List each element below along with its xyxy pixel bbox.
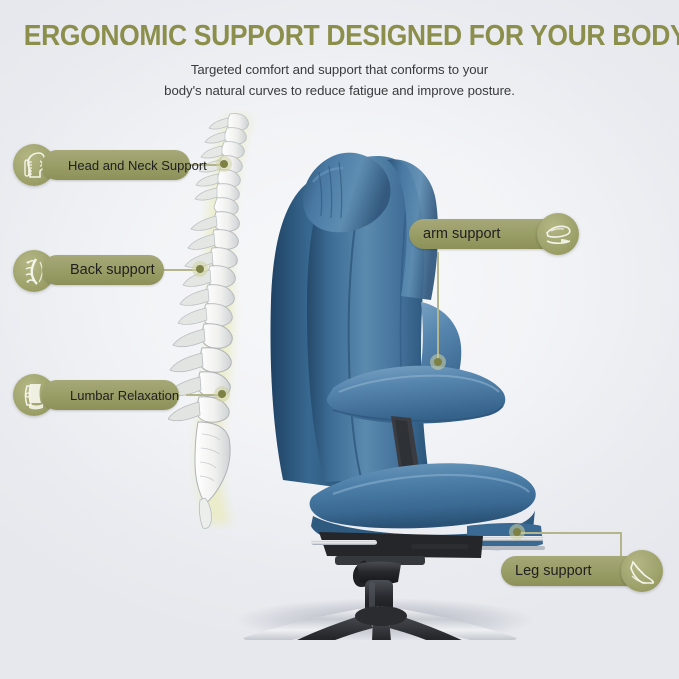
office-chair-illustration	[215, 120, 545, 640]
subtitle-line-2: body's natural curves to reduce fatigue …	[0, 83, 679, 98]
subtitle-line-1: Targeted comfort and support that confor…	[0, 62, 679, 77]
leg-foot-icon	[621, 550, 663, 592]
callout-back-support[interactable]: Back support	[42, 255, 164, 285]
callout-head-neck[interactable]: Head and Neck Support	[42, 150, 190, 180]
connector-dot-back	[196, 265, 204, 273]
arm-rest-icon	[537, 213, 579, 255]
connector-lumbar	[186, 394, 222, 396]
connector-back	[162, 269, 200, 271]
connector-leg-horizontal	[520, 532, 622, 534]
connector-dot-leg	[513, 528, 521, 536]
callout-arm-support-label: arm support	[423, 227, 500, 242]
infographic-canvas: ERGONOMIC SUPPORT DESIGNED FOR YOUR BODY…	[0, 0, 679, 679]
page-title: ERGONOMIC SUPPORT DESIGNED FOR YOUR BODY	[24, 20, 655, 53]
callout-lumbar[interactable]: Lumbar Relaxation	[42, 380, 179, 410]
connector-dot-head-neck	[220, 160, 228, 168]
callout-back-support-label: Back support	[70, 263, 155, 278]
callout-leg-support[interactable]: Leg support	[501, 556, 641, 586]
connector-leg-vertical	[620, 532, 622, 556]
connector-arm	[437, 252, 439, 362]
callout-lumbar-label: Lumbar Relaxation	[70, 389, 179, 402]
base-hub	[355, 606, 407, 626]
callout-arm-support[interactable]: arm support	[409, 219, 557, 249]
connector-dot-arm	[434, 358, 442, 366]
height-lever-right	[411, 544, 469, 549]
callout-head-neck-label: Head and Neck Support	[68, 159, 207, 172]
connector-dot-lumbar	[218, 390, 226, 398]
callout-leg-support-label: Leg support	[515, 564, 592, 579]
tilt-lever-left	[311, 540, 377, 545]
